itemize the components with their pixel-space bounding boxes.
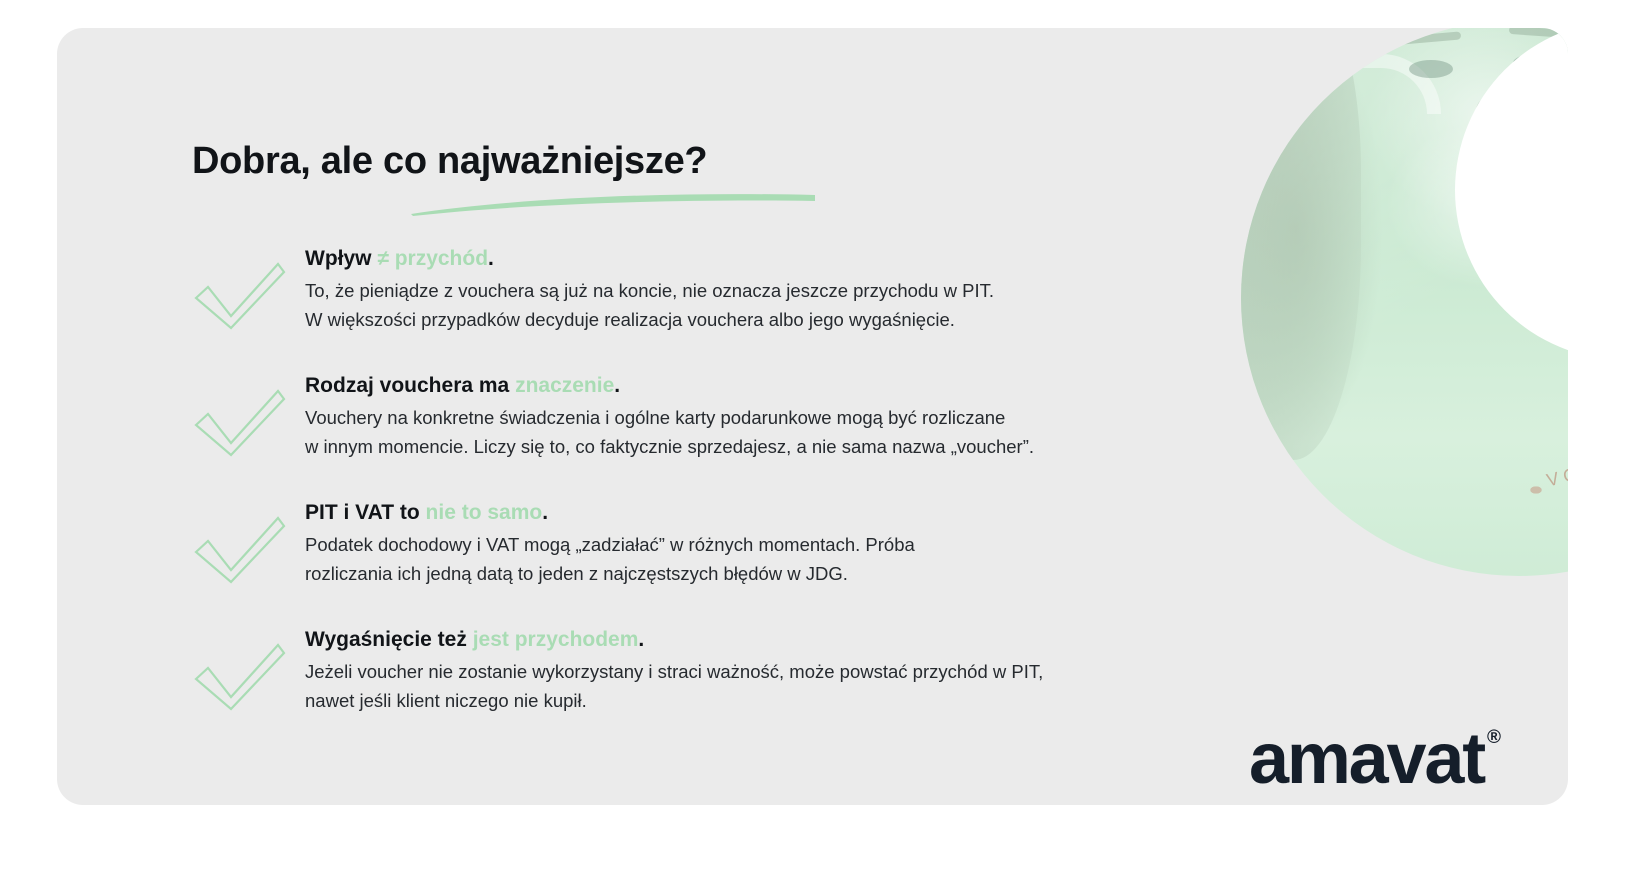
bullet-heading-end: .	[542, 501, 548, 524]
bullet-body: Vouchery na konkretne świadczenia i ogól…	[305, 404, 1252, 461]
bullet-heading-end: .	[488, 247, 494, 270]
check-icon	[192, 637, 288, 715]
bullet-body-line-1: To, że pieniądze z vouchera są już na ko…	[305, 277, 1252, 305]
bullet-list: Wpływ ≠ przychód. To, że pieniądze z vou…	[192, 246, 1252, 751]
bullet-heading-plain: PIT i VAT to	[305, 501, 426, 524]
list-item: Wpływ ≠ przychód. To, że pieniądze z vou…	[192, 246, 1252, 356]
bullet-body-line-1: Vouchery na konkretne świadczenia i ogól…	[305, 404, 1252, 432]
content-card: GIFT VOUCHER Dobra, ale co najważniejsze…	[57, 28, 1568, 805]
list-item: Rodzaj vouchera ma znaczenie. Vouchery n…	[192, 373, 1252, 483]
check-icon	[192, 510, 288, 588]
bullet-heading-accent: jest przychodem	[473, 628, 639, 651]
bullet-body: Podatek dochodowy i VAT mogą „zadziałać”…	[305, 531, 1252, 588]
hair-shape	[1241, 28, 1361, 460]
eyebrow-left	[1401, 31, 1461, 44]
bullet-body-line-1: Podatek dochodowy i VAT mogą „zadziałać”…	[305, 531, 1252, 559]
list-item: Wygaśnięcie też jest przychodem. Jeżeli …	[192, 627, 1252, 737]
bullet-heading-accent: znaczenie	[515, 374, 614, 397]
bullet-heading: PIT i VAT to nie to samo.	[305, 500, 1252, 526]
bullet-body-line-1: Jeżeli voucher nie zostanie wykorzystany…	[305, 658, 1252, 686]
eye-left	[1409, 60, 1453, 78]
bullet-heading: Wygaśnięcie też jest przychodem.	[305, 627, 1252, 653]
bullet-body: Jeżeli voucher nie zostanie wykorzystany…	[305, 658, 1252, 715]
bullet-body-line-2: nawet jeśli klient niczego nie kupił.	[305, 687, 1252, 715]
bullet-heading-end: .	[638, 628, 644, 651]
slide-canvas: GIFT VOUCHER Dobra, ale co najważniejsze…	[0, 0, 1640, 880]
title-underline-swoosh	[409, 190, 819, 216]
bullet-body-line-2: W większości przypadków decyduje realiza…	[305, 306, 1252, 334]
bullet-body-line-2: w innym momencie. Liczy się to, co fakty…	[305, 433, 1252, 461]
bullet-heading: Wpływ ≠ przychód.	[305, 246, 1252, 272]
bullet-heading-plain: Wpływ	[305, 247, 377, 270]
bullet-body: To, że pieniądze z vouchera są już na ko…	[305, 277, 1252, 334]
bullet-heading-end: .	[614, 374, 620, 397]
logo-wordmark: amavat	[1249, 723, 1484, 795]
bullet-body-line-2: rozliczania ich jedną datą to jeden z na…	[305, 560, 1252, 588]
bullet-heading-plain: Wygaśnięcie też	[305, 628, 473, 651]
bullet-heading: Rodzaj vouchera ma znaczenie.	[305, 373, 1252, 399]
gift-voucher-overlay-text: GIFT VOUCHER	[1484, 391, 1568, 509]
bullet-heading-plain: Rodzaj vouchera ma	[305, 374, 515, 397]
bullet-heading-accent: ≠ przychód	[377, 247, 488, 270]
check-icon	[192, 256, 288, 334]
registered-trademark-icon: ®	[1487, 727, 1501, 749]
amavat-logo: amavat ®	[1249, 723, 1501, 795]
bullet-heading-accent: nie to samo	[426, 501, 543, 524]
list-item: PIT i VAT to nie to samo. Podatek dochod…	[192, 500, 1252, 610]
page-title: Dobra, ale co najważniejsze?	[192, 140, 707, 183]
check-icon	[192, 383, 288, 461]
